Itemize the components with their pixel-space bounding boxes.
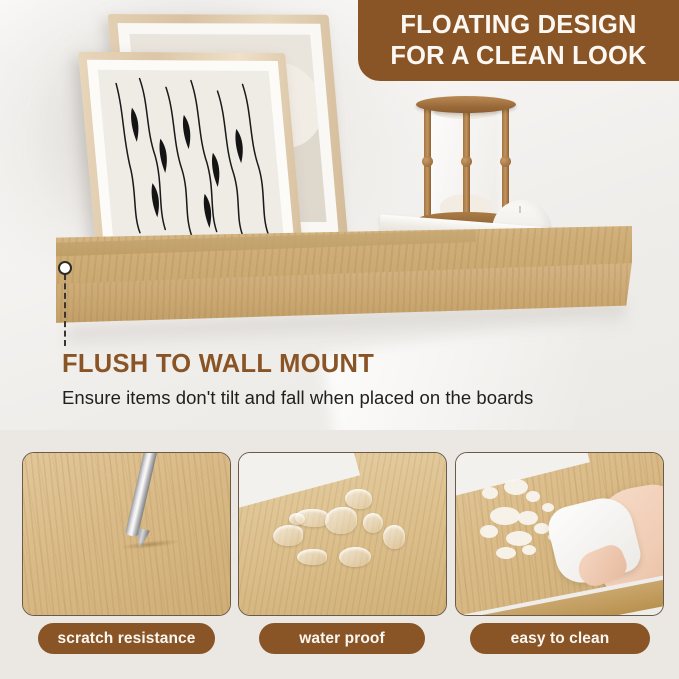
water-droplet [363,513,383,533]
water-droplet [289,513,305,525]
feature-labels: scratch resistance water proof easy to c… [0,623,679,655]
hourglass-knob [422,156,433,167]
pill-scratch-resistance: scratch resistance [38,623,215,654]
headline-subtitle: Ensure items don't tilt and fall when pl… [62,387,533,409]
banner-line-2: FOR A CLEAN LOOK [390,41,646,72]
feature-panels [0,452,679,619]
frame-artwork-brushstrokes [98,70,284,242]
hourglass-knob [461,156,472,167]
headline-title: FLUSH TO WALL MOUNT [62,350,533,379]
water-droplet [383,525,405,549]
water-droplet [325,507,357,534]
callout-dot-marker [58,261,72,275]
floating-shelf-board [56,226,632,342]
pill-water-proof: water proof [259,623,425,654]
water-droplet [273,525,303,546]
candle-wick [519,206,521,213]
hourglass-cap-top [416,96,516,113]
hourglass-knob [500,156,511,167]
panel-water-proof [238,452,447,616]
pill-easy-to-clean: easy to clean [470,623,650,654]
panel-scratch-resistance [22,452,231,616]
water-droplet [339,547,371,567]
water-droplet [297,549,327,565]
water-droplet [345,489,372,509]
banner-line-1: FLOATING DESIGN [400,10,636,41]
headline-block: FLUSH TO WALL MOUNT Ensure items don't t… [62,350,533,410]
top-banner: FLOATING DESIGN FOR A CLEAN LOOK [358,0,679,81]
callout-dashed-line [64,274,66,346]
brushstroke-icon [98,70,284,242]
panel-easy-to-clean [455,452,664,616]
product-feature-image: FLOATING DESIGN FOR A CLEAN LOOK FLUSH T… [0,0,679,679]
